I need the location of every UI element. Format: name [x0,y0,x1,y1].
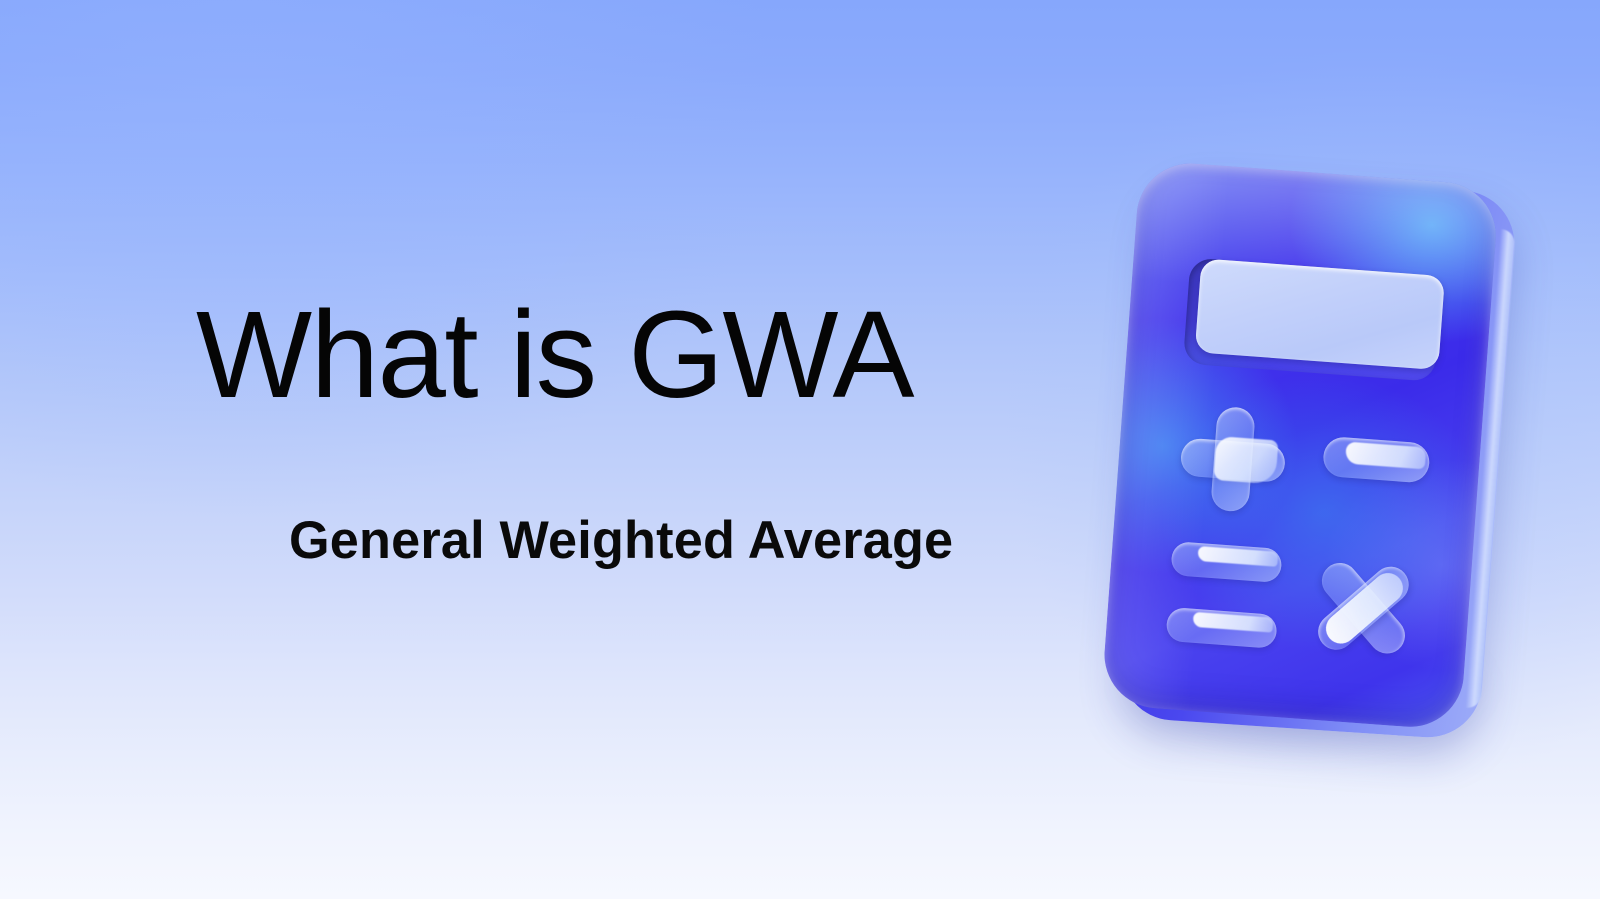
minus-icon [1322,436,1431,484]
calculator-display-screen [1195,258,1445,370]
equals-icon [1166,541,1283,649]
page-title: What is GWA [196,292,913,420]
hero-banner: What is GWA General Weighted Average [0,0,1600,899]
plus-icon [1177,404,1288,515]
calculator-body [1101,160,1500,731]
multiply-icon [1300,545,1426,671]
plus-highlight [1213,436,1278,484]
page-subtitle: General Weighted Average [289,512,953,570]
calculator-illustration [1098,158,1498,738]
calculator-rotation-group [1077,144,1518,752]
text-block: What is GWA General Weighted Average [0,0,1060,899]
